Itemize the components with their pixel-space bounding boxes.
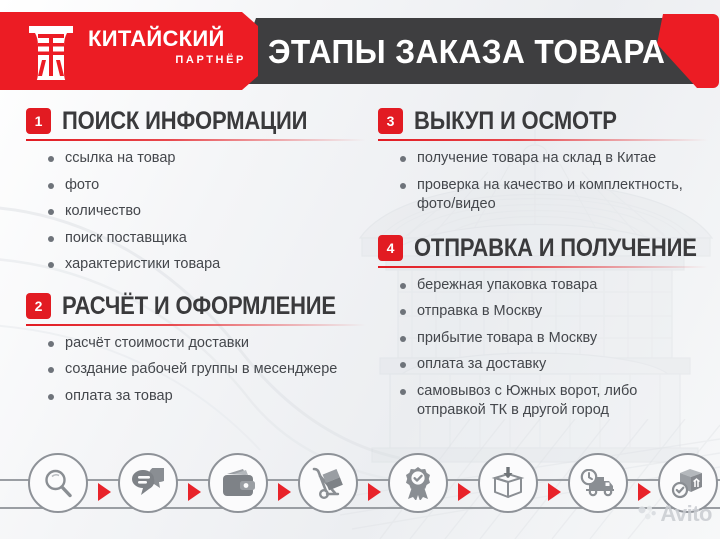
left-column: 1 ПОИСК ИНФОРМАЦИИ ссылка на товар фото … [26, 104, 366, 413]
process-arrow-7 [638, 483, 651, 501]
brand-logo: КИТАЙСКИЙ ПАРТНЁР [22, 22, 242, 80]
section-4: 4 ОТПРАВКА И ПОЛУЧЕНИЕ бережная упаковка… [378, 231, 708, 421]
section-2-underline [26, 324, 366, 326]
list-item: проверка на качество и комплектность, фо… [400, 176, 708, 215]
section-2-number-badge: 2 [26, 293, 51, 319]
poster-canvas: ЭТАПЫ ЗАКАЗА ТОВАРА [0, 0, 720, 539]
section-4-title: ОТПРАВКА И ПОЛУЧЕНИЕ [414, 231, 697, 265]
section-4-number-badge: 4 [378, 235, 403, 261]
list-item: оплата за товар [48, 387, 366, 407]
section-1-head: 1 ПОИСК ИНФОРМАЦИИ [26, 104, 366, 138]
list-item: фото [48, 176, 366, 196]
list-item: расчёт стоимости доставки [48, 334, 366, 354]
section-2-head: 2 РАСЧЁТ И ОФОРМЛЕНИЕ [26, 289, 366, 323]
section-1-title: ПОИСК ИНФОРМАЦИИ [62, 104, 307, 138]
avito-watermark: Avito [637, 501, 712, 527]
list-item: поиск поставщика [48, 229, 366, 249]
poster-header: ЭТАПЫ ЗАКАЗА ТОВАРА [0, 12, 720, 90]
process-step-5[interactable] [388, 453, 448, 513]
hand-truck-icon [311, 467, 345, 499]
section-1: 1 ПОИСК ИНФОРМАЦИИ ссылка на товар фото … [26, 104, 366, 275]
process-arrow-3 [278, 483, 291, 501]
process-step-1[interactable] [28, 453, 88, 513]
magnifier-icon [42, 467, 74, 499]
process-step-4[interactable] [298, 453, 358, 513]
section-2-title: РАСЧЁТ И ОФОРМЛЕНИЕ [62, 289, 336, 323]
right-column: 3 ВЫКУП И ОСМОТР получение товара на скл… [378, 104, 708, 428]
process-strip: Avito [0, 453, 720, 531]
box-packing-icon [491, 467, 525, 499]
torii-gate-icon [22, 22, 80, 80]
header-red-banner: КИТАЙСКИЙ ПАРТНЁР [0, 12, 258, 90]
section-3-title: ВЫКУП И ОСМОТР [414, 104, 617, 138]
chat-bubbles-icon [132, 468, 164, 498]
section-3-list: получение товара на склад в Китае провер… [378, 149, 708, 215]
section-1-underline [26, 139, 366, 141]
process-arrow-1 [98, 483, 111, 501]
brand-name-sub: ПАРТНЁР [88, 52, 248, 68]
process-step-7[interactable] [568, 453, 628, 513]
list-item: характеристики товара [48, 255, 366, 275]
list-item: прибытие товара в Москву [400, 329, 708, 349]
process-arrow-4 [368, 483, 381, 501]
section-1-list: ссылка на товар фото количество поиск по… [26, 149, 366, 275]
process-arrow-6 [548, 483, 561, 501]
section-3-number-badge: 3 [378, 108, 403, 134]
process-arrow-2 [188, 483, 201, 501]
list-item: ссылка на товар [48, 149, 366, 169]
delivered-box-check-icon [671, 467, 705, 499]
wallet-icon [221, 468, 255, 498]
list-item: самовывоз с Южных ворот, либо отправкой … [400, 382, 708, 421]
list-item: количество [48, 202, 366, 222]
section-2-list: расчёт стоимости доставки создание рабоч… [26, 334, 366, 407]
list-item: оплата за доставку [400, 355, 708, 375]
brand-name-main: КИТАЙСКИЙ [88, 26, 248, 52]
list-item: бережная упаковка товара [400, 276, 708, 296]
quality-badge-icon [402, 466, 434, 500]
brand-wordmark: КИТАЙСКИЙ ПАРТНЁР [88, 26, 248, 68]
avito-watermark-label: Avito [660, 501, 712, 527]
section-1-number-badge: 1 [26, 108, 51, 134]
section-4-head: 4 ОТПРАВКА И ПОЛУЧЕНИЕ [378, 231, 708, 265]
page-title: ЭТАПЫ ЗАКАЗА ТОВАРА [268, 28, 671, 76]
process-step-6[interactable] [478, 453, 538, 513]
section-3-underline [378, 139, 708, 141]
list-item: создание рабочей группы в месенджере [48, 360, 366, 380]
process-step-2[interactable] [118, 453, 178, 513]
section-4-list: бережная упаковка товара отправка в Моск… [378, 276, 708, 421]
avito-paw-icon [637, 504, 657, 524]
section-3-head: 3 ВЫКУП И ОСМОТР [378, 104, 708, 138]
process-step-3[interactable] [208, 453, 268, 513]
list-item: получение товара на склад в Китае [400, 149, 708, 169]
delivery-truck-clock-icon [580, 469, 616, 497]
section-4-underline [378, 266, 708, 268]
list-item: отправка в Москву [400, 302, 708, 322]
section-2: 2 РАСЧЁТ И ОФОРМЛЕНИЕ расчёт стоимости д… [26, 289, 366, 407]
section-3: 3 ВЫКУП И ОСМОТР получение товара на скл… [378, 104, 708, 215]
process-arrow-5 [458, 483, 471, 501]
